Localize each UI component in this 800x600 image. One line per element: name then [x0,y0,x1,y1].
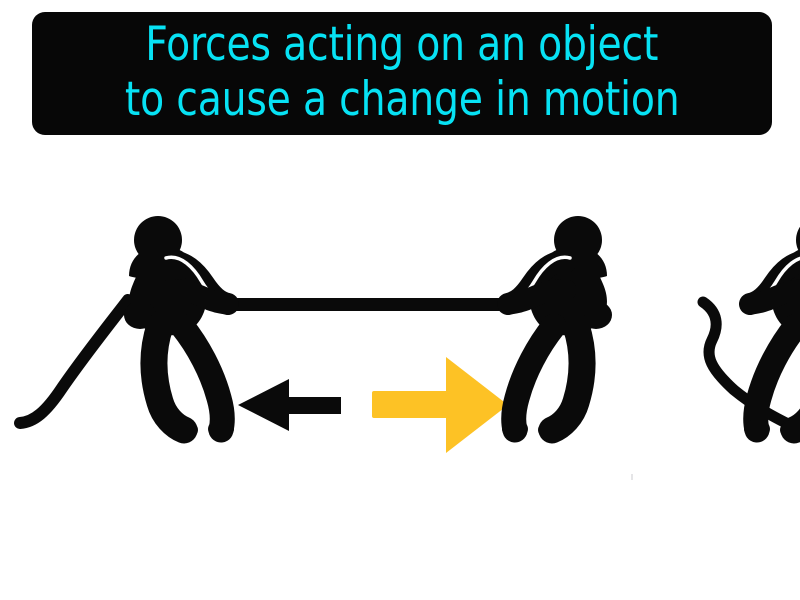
figure-foot-front [208,419,234,439]
figure-foot-rear [166,419,198,441]
definition-title-card: Forces acting on an object to cause a ch… [32,12,772,135]
rope-tail-left [20,300,128,423]
force-arrow-left [238,379,341,431]
figure-right-puller-back [744,216,800,441]
scan-artifact [631,474,633,480]
figure-left-puller [124,216,234,441]
figure-foot-front [502,419,528,439]
tug-of-war-illustration [0,150,800,460]
force-arrow-right [372,357,508,453]
figure-foot-rear [538,419,570,441]
figure-right-puller-front [502,216,612,441]
title-line-2: to cause a change in motion [125,72,680,127]
figure-leg-front [182,326,222,430]
rope-center-span [222,298,506,311]
figure-foot-front [744,419,770,439]
slide-canvas: Forces acting on an object to cause a ch… [0,0,800,600]
figure-leg-front [514,326,554,430]
title-line-1: Forces acting on an object [146,17,659,72]
